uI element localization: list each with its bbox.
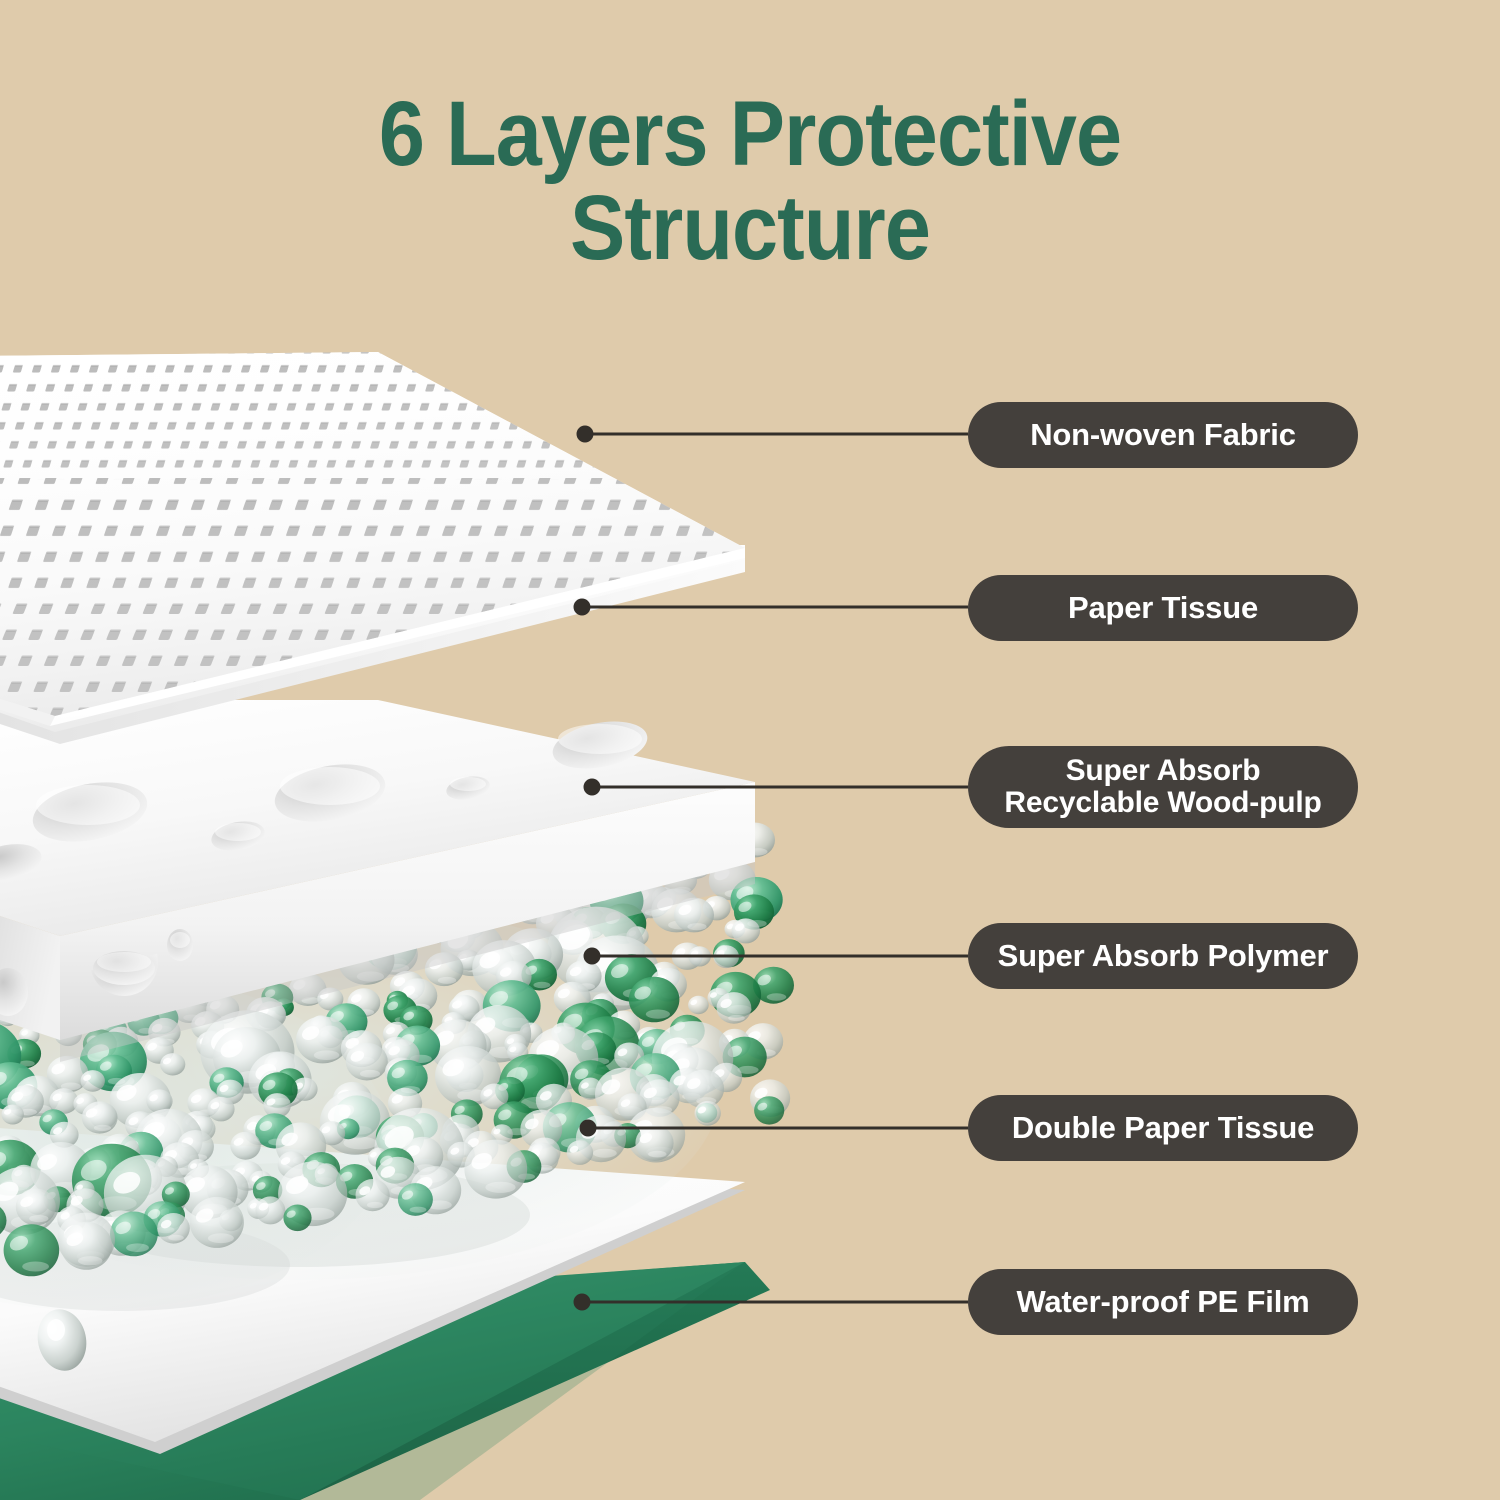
infographic-canvas: 6 Layers Protective Structure Non-woven …: [0, 0, 1500, 1500]
layer-label-super-absorb-polymer[interactable]: Super Absorb Polymer: [968, 923, 1358, 989]
polymer-bead: [567, 1140, 593, 1165]
polymer-bead: [207, 1097, 234, 1122]
polymer-bead: [160, 1053, 185, 1075]
polymer-bead: [695, 1101, 721, 1126]
leader-dot-double-paper-tissue: [580, 1120, 597, 1137]
polymer-bead: [296, 1016, 349, 1063]
polymer-bead: [230, 1132, 260, 1160]
polymer-bead: [157, 1213, 190, 1244]
polymer-bead: [346, 1043, 388, 1081]
polymer-bead: [717, 992, 752, 1024]
polymer-bead: [4, 1224, 60, 1276]
layer-label-paper-tissue[interactable]: Paper Tissue: [968, 575, 1358, 641]
layer-shape-non-woven-fabric: [0, 340, 955, 740]
layer-label-non-woven-fabric[interactable]: Non-woven Fabric: [968, 402, 1358, 468]
polymer-bead: [635, 1125, 673, 1161]
leader-dot-super-absorb-polymer: [584, 948, 601, 965]
polymer-bead: [688, 996, 709, 1014]
layer-label-double-paper-tissue[interactable]: Double Paper Tissue: [968, 1095, 1358, 1161]
polymer-bead: [190, 1197, 244, 1248]
page-title: 6 Layers Protective Structure: [75, 88, 1425, 276]
polymer-bead: [283, 1205, 311, 1232]
polymer-bead: [629, 977, 680, 1023]
layer-label-super-absorb-recyclable-wood-pulp[interactable]: Super Absorb Recyclable Wood-pulp: [968, 746, 1358, 828]
polymer-bead: [754, 1096, 784, 1124]
polymer-bead: [464, 1140, 527, 1199]
layer-label-water-proof-pe-film[interactable]: Water-proof PE Film: [968, 1269, 1358, 1335]
polymer-bead: [356, 1179, 390, 1211]
polymer-bead: [81, 1070, 105, 1092]
polymer-bead: [256, 1196, 286, 1224]
polymer-bead: [2, 1105, 24, 1125]
polymer-bead: [732, 918, 760, 943]
polymer-bead: [61, 1222, 112, 1270]
leader-dot-water-proof-pe-film: [574, 1294, 591, 1311]
polymer-bead: [82, 1101, 118, 1133]
polymer-bead: [16, 1188, 56, 1225]
leader-dot-paper-tissue: [574, 599, 591, 616]
polymer-bead: [398, 1183, 433, 1216]
leader-dot-non-woven-fabric: [577, 426, 594, 443]
polymer-bead: [110, 1212, 158, 1257]
leader-dot-super-absorb-recyclable-wood-pulp: [584, 779, 601, 796]
